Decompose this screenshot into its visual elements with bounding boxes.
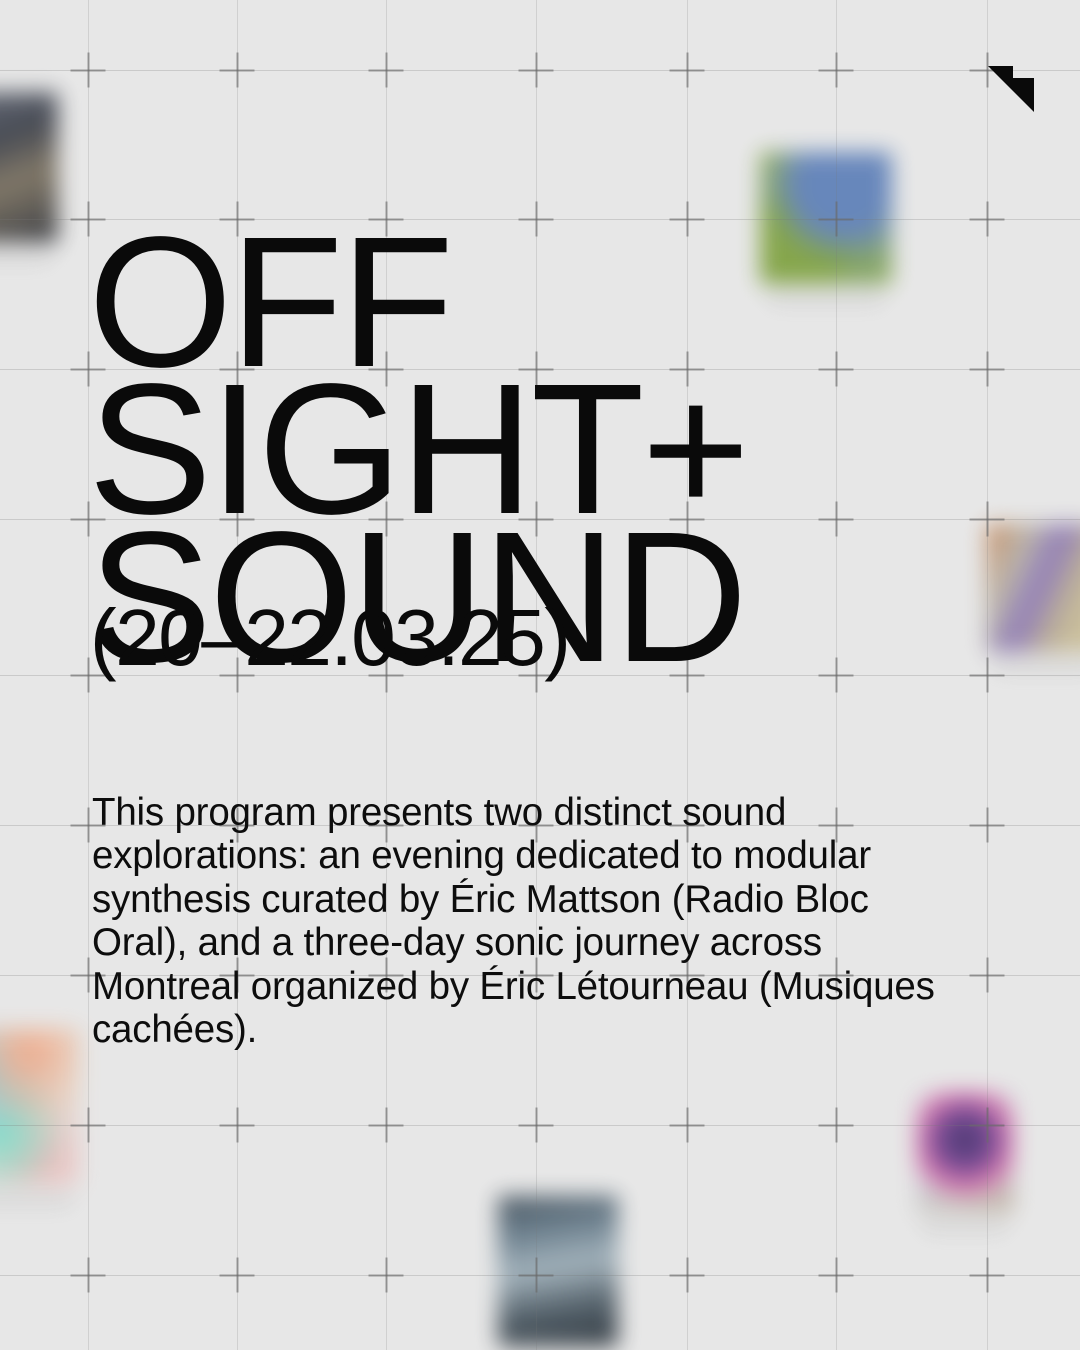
event-date: (20–22.03.25) <box>90 598 569 678</box>
stepped-arrow-icon <box>988 66 1034 112</box>
poster-content: OFF SIGHT+ SOUND (20–22.03.25) This prog… <box>0 0 1080 1350</box>
program-description: This program presents two distinct sound… <box>92 791 972 1052</box>
poster-canvas: OFF SIGHT+ SOUND (20–22.03.25) This prog… <box>0 0 1080 1350</box>
